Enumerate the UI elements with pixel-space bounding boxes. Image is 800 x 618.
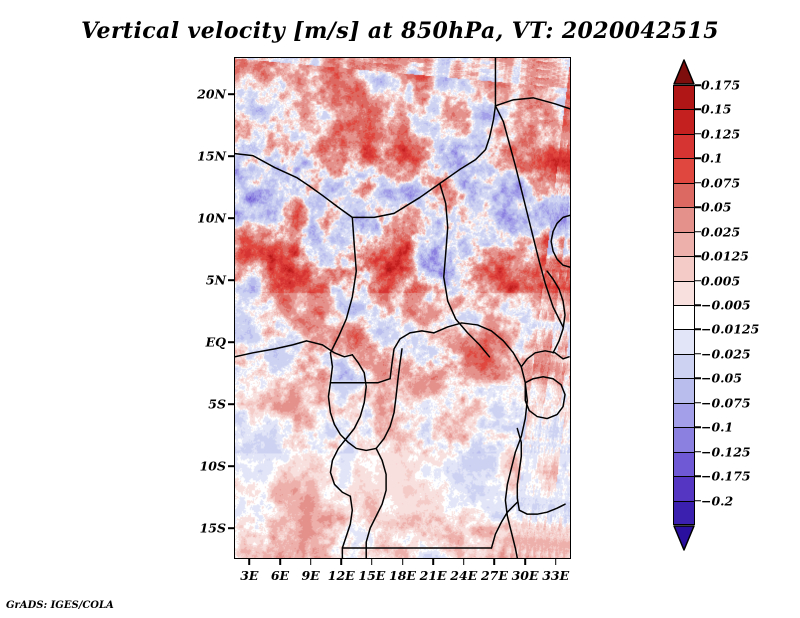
x-tick xyxy=(371,559,373,565)
country-borders-overlay xyxy=(235,58,570,558)
y-axis-label: 5N xyxy=(180,273,226,288)
colorbar-tick-label: 0.025 xyxy=(701,224,740,239)
x-axis-label: 27E xyxy=(481,568,508,583)
x-axis-label: 3E xyxy=(240,568,258,583)
y-axis-label: 10N xyxy=(180,211,226,226)
colorbar-tick-label: −0.175 xyxy=(701,469,751,484)
colorbar-segment xyxy=(673,134,695,158)
colorbar-tick-label: −0.0125 xyxy=(701,322,759,337)
colorbar-segment xyxy=(673,427,695,451)
x-axis-label: 21E xyxy=(420,568,447,583)
y-tick xyxy=(228,279,234,281)
colorbar-tick-label: 0.15 xyxy=(701,102,731,117)
colorbar-min-arrow xyxy=(673,525,695,551)
colorbar-tick-label: −0.025 xyxy=(701,346,751,361)
colorbar-segment xyxy=(673,183,695,207)
colorbar-tick-label: −0.2 xyxy=(701,493,733,508)
x-tick xyxy=(340,559,342,565)
x-tick xyxy=(310,559,312,565)
x-tick xyxy=(524,559,526,565)
x-tick xyxy=(432,559,434,565)
colorbar-segment xyxy=(673,476,695,500)
grads-plot-page: Vertical velocity [m/s] at 850hPa, VT: 2… xyxy=(0,0,800,618)
x-axis-label: 12E xyxy=(328,568,355,583)
y-tick xyxy=(228,341,234,343)
y-axis-label: EQ xyxy=(180,335,226,350)
colorbar-tick-label: 0.1 xyxy=(701,151,723,166)
colorbar-segment xyxy=(673,403,695,427)
y-axis-label: 5S xyxy=(180,397,226,412)
colorbar-tick-label: −0.005 xyxy=(701,298,751,313)
colorbar-tick-label: 0.075 xyxy=(701,175,740,190)
y-axis-label: 20N xyxy=(180,87,226,102)
colorbar-segment xyxy=(673,452,695,476)
colorbar-segment xyxy=(673,207,695,231)
x-axis-label: 18E xyxy=(389,568,416,583)
y-tick xyxy=(228,217,234,219)
colorbar-segment xyxy=(673,158,695,182)
colorbar-tick-label: −0.075 xyxy=(701,395,751,410)
colorbar-segment xyxy=(673,109,695,133)
colorbar-segment xyxy=(673,281,695,305)
x-tick xyxy=(555,559,557,565)
x-tick xyxy=(463,559,465,565)
y-axis-label: 15S xyxy=(180,521,226,536)
colorbar-max-arrow xyxy=(673,59,695,85)
colorbar[interactable] xyxy=(673,85,695,525)
colorbar-tick-label: 0.0125 xyxy=(701,249,749,264)
x-axis-label: 30E xyxy=(512,568,539,583)
y-tick xyxy=(228,155,234,157)
colorbar-tick-label: 0.175 xyxy=(701,78,740,93)
y-tick xyxy=(228,465,234,467)
colorbar-segment xyxy=(673,305,695,329)
x-axis-label: 6E xyxy=(271,568,289,583)
y-tick xyxy=(228,93,234,95)
x-axis-label: 33E xyxy=(542,568,569,583)
grads-credit: GrADS: IGES/COLA xyxy=(6,600,114,611)
x-tick xyxy=(402,559,404,565)
colorbar-tick-label: −0.125 xyxy=(701,444,751,459)
colorbar-tick-label: 0.05 xyxy=(701,200,731,215)
colorbar-segment xyxy=(673,329,695,353)
colorbar-segment xyxy=(673,232,695,256)
x-axis-label: 15E xyxy=(358,568,385,583)
y-axis-label: 15N xyxy=(180,149,226,164)
colorbar-segment xyxy=(673,85,695,109)
colorbar-tick-label: −0.1 xyxy=(701,420,733,435)
x-tick xyxy=(249,559,251,565)
colorbar-tick-label: 0.125 xyxy=(701,126,740,141)
y-tick xyxy=(228,527,234,529)
page-title: Vertical velocity [m/s] at 850hPa, VT: 2… xyxy=(0,18,800,44)
colorbar-segment xyxy=(673,378,695,402)
colorbar-tick-label: −0.05 xyxy=(701,371,742,386)
colorbar-segment xyxy=(673,354,695,378)
x-axis-label: 24E xyxy=(450,568,477,583)
x-tick xyxy=(494,559,496,565)
colorbar-segment xyxy=(673,501,695,525)
y-axis-label: 10S xyxy=(180,459,226,474)
map-plot-area[interactable] xyxy=(234,57,571,559)
y-tick xyxy=(228,403,234,405)
x-axis-label: 9E xyxy=(301,568,319,583)
colorbar-tick-label: 0.005 xyxy=(701,273,740,288)
colorbar-segment xyxy=(673,256,695,280)
x-tick xyxy=(279,559,281,565)
